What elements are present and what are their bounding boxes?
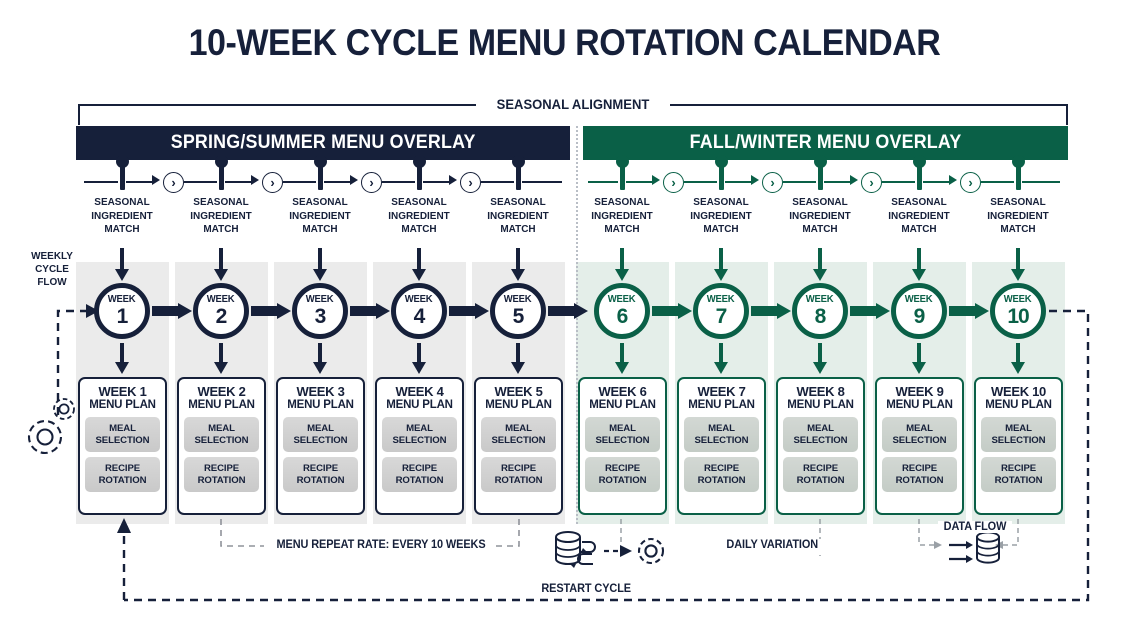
data-flow-icon (949, 541, 973, 563)
process-arrowhead (620, 545, 632, 557)
gear-icon (29, 421, 61, 453)
data-flow-arrow-left (934, 541, 942, 549)
weekly-cycle-entry-arrowhead (86, 304, 99, 318)
database-sync-icon (556, 532, 595, 568)
restart-cycle-loop (124, 311, 1088, 600)
restart-cycle-label: RESTART CYCLE (533, 583, 639, 595)
connector-overlay (0, 0, 1129, 630)
restart-cycle-arrowhead (117, 518, 131, 533)
menu-repeat-rate-label: MENU REPEAT RATE: EVERY 10 WEEKS (266, 539, 496, 551)
data-flow-label: DATA FLOW (938, 521, 1012, 533)
database-icon (977, 532, 999, 562)
daily-variation-label: DAILY VARIATION (719, 539, 825, 551)
infographic-canvas: 10-WEEK CYCLE MENU ROTATION CALENDAR SEA… (0, 0, 1129, 630)
weekly-cycle-entry-path (58, 311, 86, 415)
repeat-rate-bracket-left (221, 519, 264, 546)
gear-icon (639, 539, 663, 563)
data-flow-connector-left (919, 519, 934, 545)
